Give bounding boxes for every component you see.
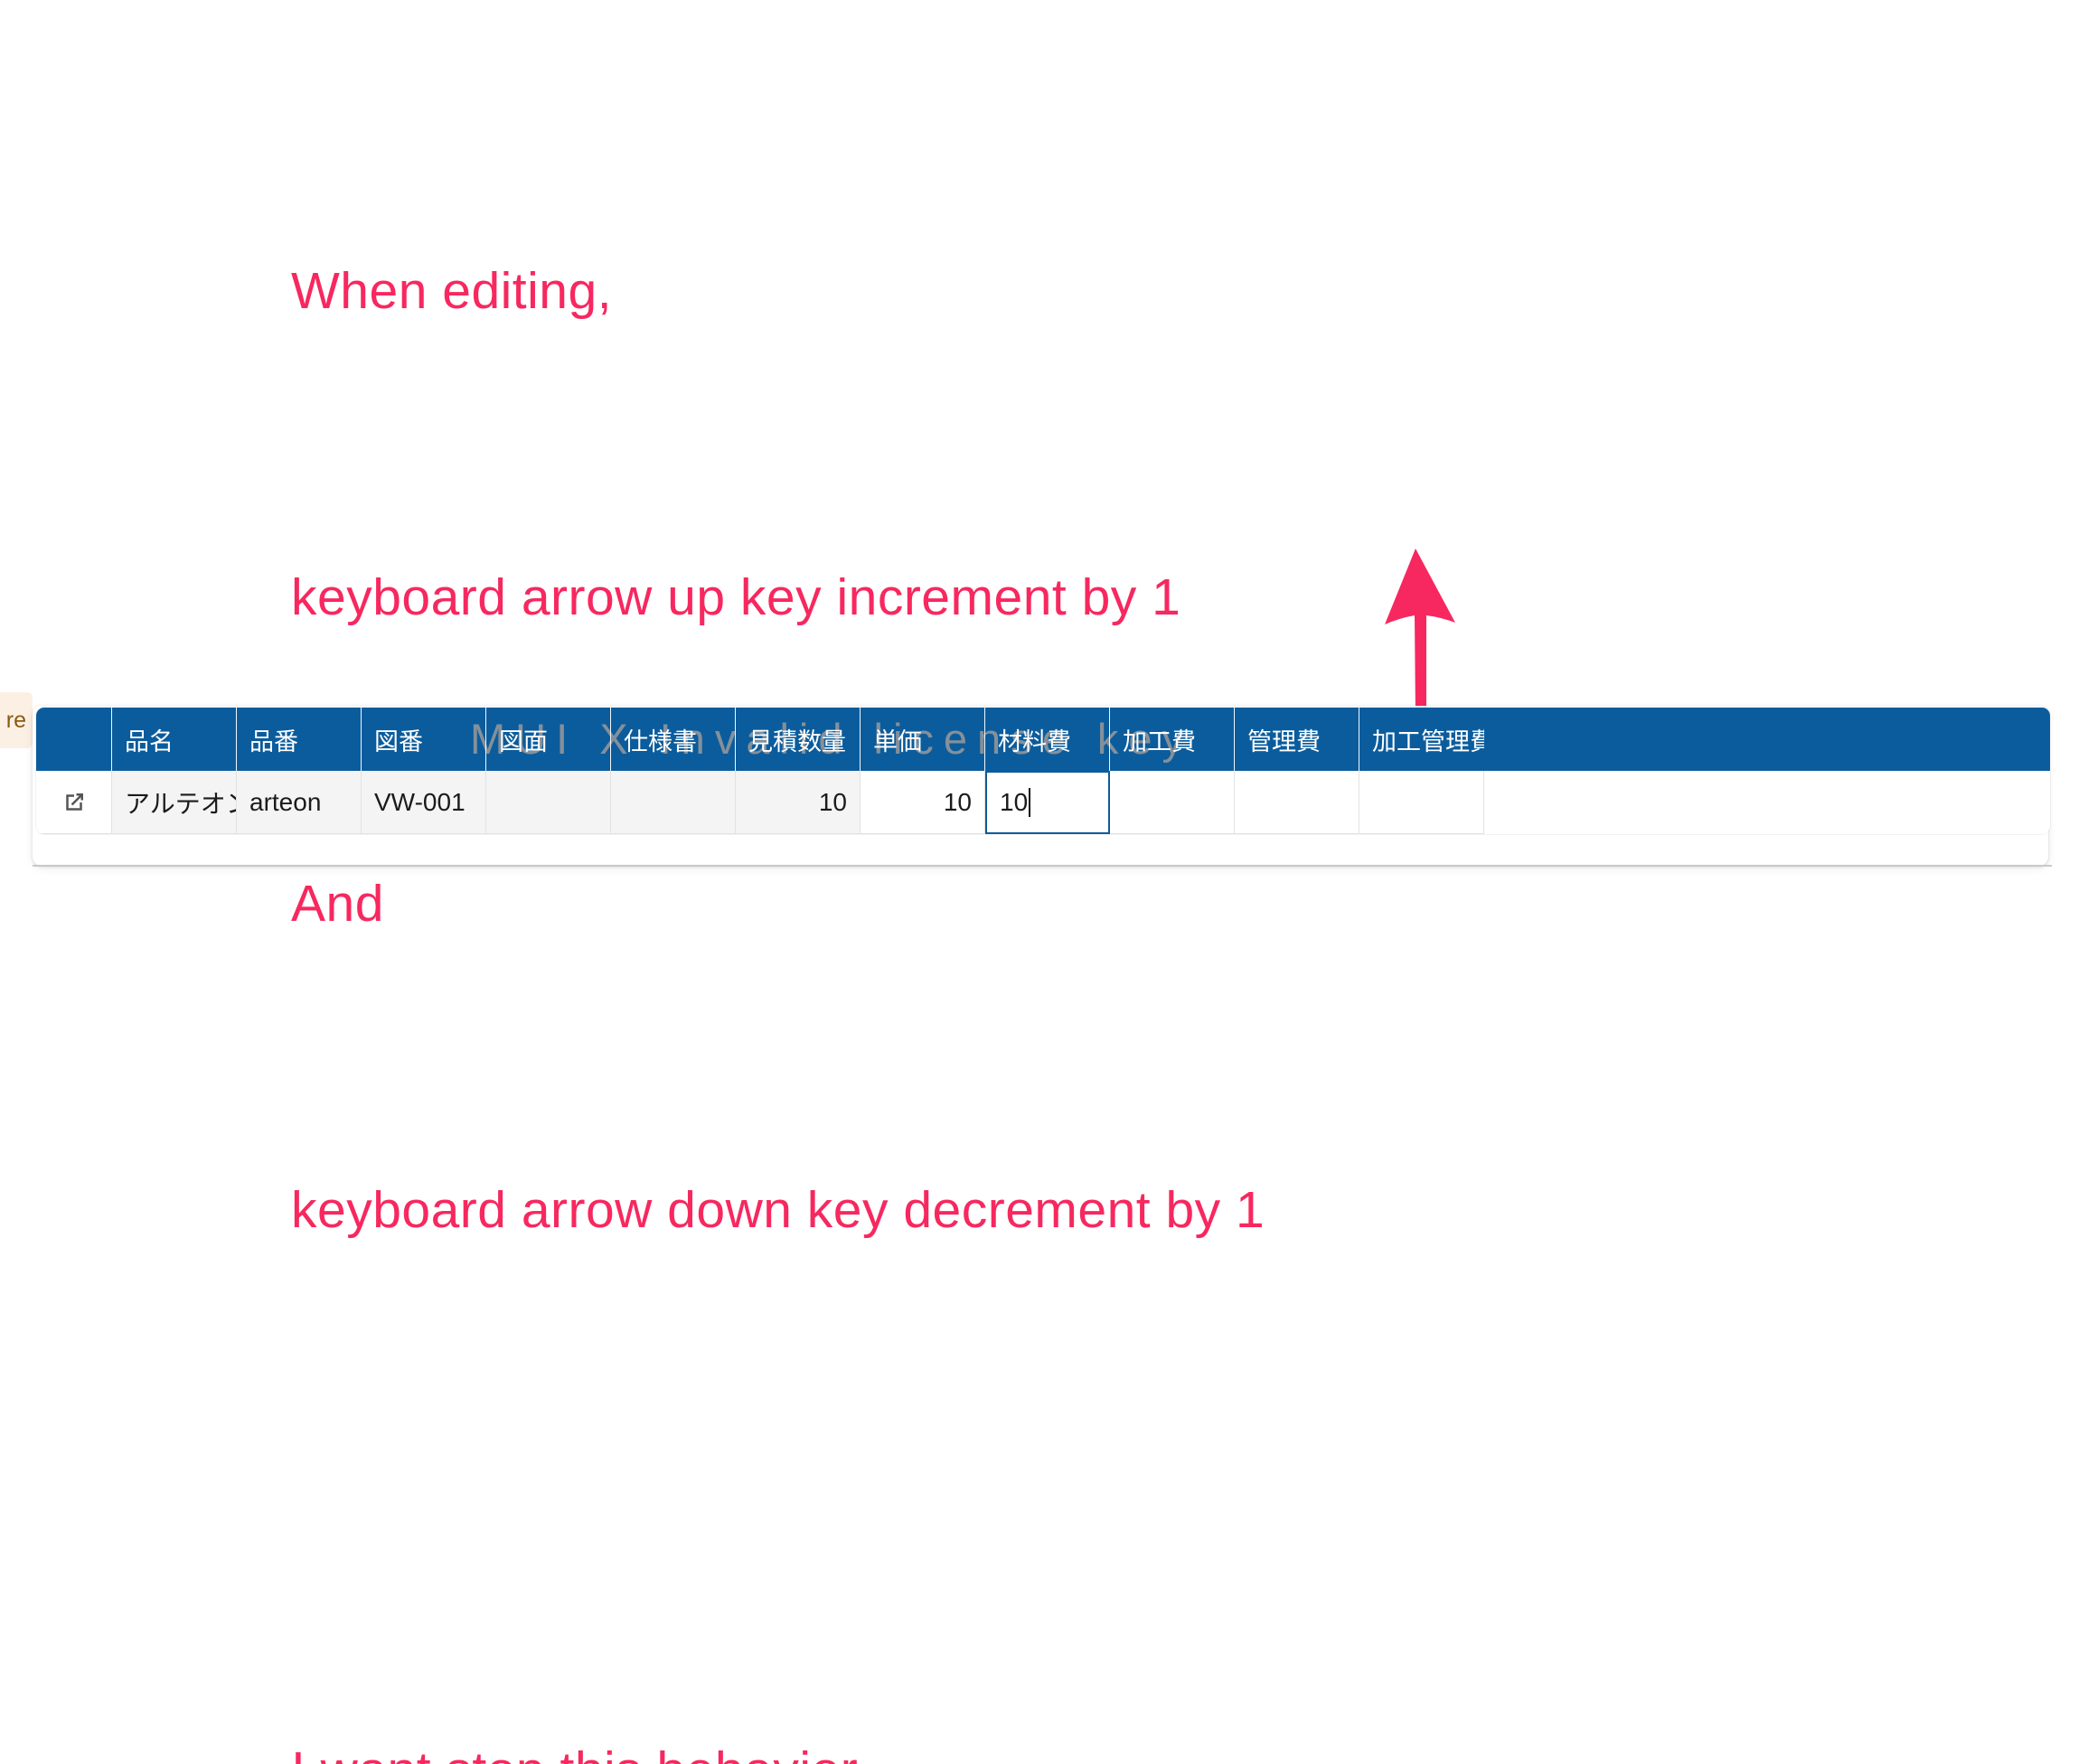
cell-kanrihi[interactable]: [1235, 771, 1359, 834]
cell-zumen[interactable]: [486, 771, 611, 834]
column-header-zumen[interactable]: 図面: [486, 708, 611, 771]
cell-zuban[interactable]: VW-001: [362, 771, 486, 834]
annotation-line-2: keyboard arrow up key increment by 1: [291, 547, 1737, 649]
cell-hinmei[interactable]: アルテオン: [112, 771, 237, 834]
grid-scroller[interactable]: 品名 品番 図番 図面 仕様書 見積数量 単価 材料費 加工費 管理費 加工管理…: [36, 708, 2050, 834]
column-header-hinban[interactable]: 品番: [237, 708, 362, 771]
row-open-detail-button[interactable]: [36, 771, 112, 834]
data-grid[interactable]: 品名 品番 図番 図面 仕様書 見積数量 単価 材料費 加工費 管理費 加工管理…: [36, 708, 2050, 834]
zairyohi-edit-input[interactable]: 10: [985, 771, 1110, 834]
zairyohi-edit-value: 10: [1000, 788, 1028, 817]
cell-zairyohi-editing[interactable]: 10: [985, 771, 1110, 834]
column-header-kanrihi[interactable]: 管理費: [1235, 708, 1359, 771]
side-chip[interactable]: re: [0, 692, 33, 748]
column-header-zairyohi[interactable]: 材料費: [985, 708, 1110, 771]
annotation-line-1: When editing,: [291, 240, 1737, 342]
bottom-divider: [33, 865, 2052, 867]
column-header-tanka[interactable]: 単価: [861, 708, 985, 771]
cell-hinban[interactable]: arteon: [237, 771, 362, 834]
table-row[interactable]: アルテオン arteon VW-001 10 10 10: [36, 771, 2050, 834]
cell-kakohi[interactable]: [1110, 771, 1235, 834]
cell-mitsumori-suryo[interactable]: 10: [736, 771, 861, 834]
annotation-line-3: And: [291, 853, 1737, 955]
annotation-note: When editing, keyboard arrow up key incr…: [291, 36, 1737, 1764]
column-header-shiyosho[interactable]: 仕様書: [611, 708, 736, 771]
column-header-zuban[interactable]: 図番: [362, 708, 486, 771]
annotation-line-4: keyboard arrow down key decrement by 1: [291, 1159, 1737, 1262]
column-header-kakokanrihi[interactable]: 加工管理費: [1359, 708, 1484, 771]
column-header-hinmei[interactable]: 品名: [112, 708, 237, 771]
cell-kakokanrihi[interactable]: [1359, 771, 1484, 834]
annotation-line-5: I want stop this behavior: [291, 1720, 1737, 1764]
grid-header-row: 品名 品番 図番 図面 仕様書 見積数量 単価 材料費 加工費 管理費 加工管理…: [36, 708, 2050, 771]
text-caret: [1029, 788, 1030, 817]
column-header-mitsumori-suryo[interactable]: 見積数量: [736, 708, 861, 771]
column-header-actions[interactable]: [36, 708, 112, 771]
annotation-blank-line: [291, 1466, 1737, 1515]
open-in-new-icon: [61, 789, 88, 816]
cell-tanka[interactable]: 10: [861, 771, 985, 834]
cell-shiyosho[interactable]: [611, 771, 736, 834]
column-header-kakohi[interactable]: 加工費: [1110, 708, 1235, 771]
